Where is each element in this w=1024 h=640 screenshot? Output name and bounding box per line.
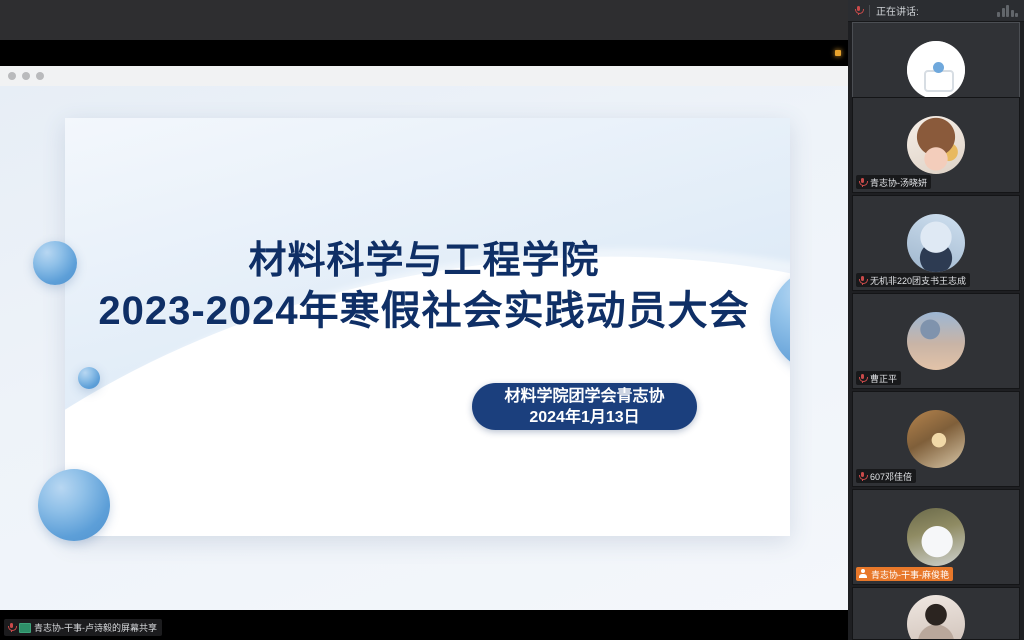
- participant-name: 曹正平: [870, 372, 897, 385]
- participant-namebar: 青志协-汤晓妍: [856, 175, 931, 189]
- participant-namebar: 曹正平: [856, 371, 901, 385]
- active-speaker-header: 正在讲话:: [848, 0, 1024, 22]
- participant-tile[interactable]: 无机非220团支书王志成: [852, 195, 1020, 291]
- participant-tile[interactable]: 青志协-汤晓妍: [852, 97, 1020, 193]
- remote-desktop-blackband: [0, 40, 848, 66]
- remote-desktop-topbar: [0, 0, 848, 40]
- participant-name: 青志协-汤晓妍: [870, 176, 927, 189]
- avatar: [907, 410, 965, 468]
- recording-indicator-icon: [835, 50, 841, 56]
- share-status-text: 青志协-干事-卢诗毅的屏幕共享: [34, 621, 157, 634]
- screen-share-icon: [19, 623, 31, 633]
- slide-title: 材料科学与工程学院 2023-2024年寒假社会实践动员大会: [0, 236, 848, 336]
- mic-muted-icon: [858, 276, 867, 285]
- zoom-meeting-window: 材料科学与工程学院 2023-2024年寒假社会实践动员大会 材料学院团学会青志…: [0, 0, 1024, 640]
- participant-tile[interactable]: 曹正平: [852, 293, 1020, 389]
- window-dot-close-icon[interactable]: [8, 72, 16, 80]
- decorative-sphere-left-mid: [78, 367, 100, 389]
- participant-namebar-host: 青志协-干事-麻俊艳: [856, 567, 953, 581]
- participant-tile[interactable]: 607邓佳倍: [852, 391, 1020, 487]
- participant-tile[interactable]: [852, 587, 1020, 640]
- audio-wave-icon: [997, 5, 1018, 17]
- mic-muted-icon: [858, 178, 867, 187]
- mic-muted-icon: [854, 6, 863, 15]
- share-status-banner: 青志协-干事-卢诗毅的屏幕共享: [4, 619, 162, 636]
- participant-name: 青志协-干事-麻俊艳: [871, 568, 949, 581]
- avatar: [907, 508, 965, 566]
- slide-subtitle-line2: 2024年1月13日: [529, 407, 639, 428]
- participant-tile[interactable]: 青志协-干事-麻俊艳: [852, 489, 1020, 585]
- speaking-label: 正在讲话:: [876, 3, 919, 18]
- slide-title-line2: 2023-2024年寒假社会实践动员大会: [0, 286, 848, 336]
- participant-name: 607邓佳倍: [870, 470, 912, 483]
- window-traffic-lights[interactable]: [8, 72, 44, 80]
- mic-muted-icon: [7, 623, 16, 632]
- participant-namebar: 无机非220团支书王志成: [856, 273, 970, 287]
- avatar: [907, 116, 965, 174]
- mic-muted-icon: [858, 472, 867, 481]
- mic-muted-icon: [858, 374, 867, 383]
- slide-subtitle-pill: 材料学院团学会青志协 2024年1月13日: [472, 383, 697, 430]
- participant-strip[interactable]: 正在讲话: 青志协-干事-卢诗毅正在共享: [848, 0, 1024, 640]
- header-divider: [869, 5, 870, 17]
- presentation-slide: [0, 86, 848, 610]
- decorative-sphere-left-large: [38, 469, 110, 541]
- participant-name: 无机非220团支书王志成: [870, 274, 966, 287]
- avatar: [907, 312, 965, 370]
- avatar: [907, 41, 965, 99]
- avatar: [907, 214, 965, 272]
- window-dot-maximize-icon[interactable]: [36, 72, 44, 80]
- participant-namebar: 607邓佳倍: [856, 469, 916, 483]
- person-icon: [858, 569, 868, 579]
- shared-screen-region: 材料科学与工程学院 2023-2024年寒假社会实践动员大会 材料学院团学会青志…: [0, 0, 848, 640]
- window-dot-minimize-icon[interactable]: [22, 72, 30, 80]
- browser-titlebar: [0, 66, 848, 87]
- slide-subtitle-line1: 材料学院团学会青志协: [504, 386, 664, 407]
- avatar: [907, 595, 965, 640]
- slide-title-line1: 材料科学与工程学院: [0, 236, 848, 286]
